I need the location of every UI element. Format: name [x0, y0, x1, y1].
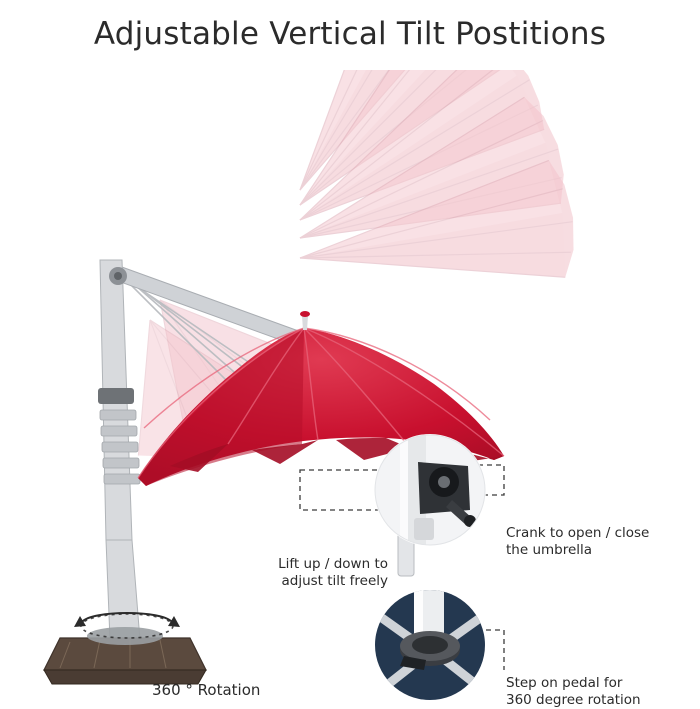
- illustration-stage: Lift up / down to adjust tilt freely Cra…: [0, 70, 700, 700]
- callout-crank-line1: Crank to open / close: [506, 525, 649, 541]
- callout-rotation: 360 ° Rotation: [152, 682, 352, 699]
- callout-pedal: Step on pedal for 360 degree rotation: [506, 675, 686, 709]
- callout-crank-line2: the umbrella: [506, 542, 592, 558]
- page-title: Adjustable Vertical Tilt Postitions: [0, 16, 700, 52]
- crank-detail-photo: [375, 435, 485, 545]
- callout-lift-line2: adjust tilt freely: [281, 573, 388, 589]
- umbrella-illustration: [0, 70, 700, 700]
- umbrella-base: [44, 627, 206, 684]
- callout-lift: Lift up / down to adjust tilt freely: [228, 556, 388, 590]
- pedal-detail-photo: [375, 590, 485, 700]
- product-infographic: Adjustable Vertical Tilt Postitions: [0, 0, 700, 700]
- callout-crank: Crank to open / close the umbrella: [506, 525, 686, 559]
- callout-lift-line1: Lift up / down to: [278, 556, 388, 572]
- callout-pedal-line1: Step on pedal for: [506, 675, 622, 691]
- callout-pedal-line2: 360 degree rotation: [506, 692, 641, 708]
